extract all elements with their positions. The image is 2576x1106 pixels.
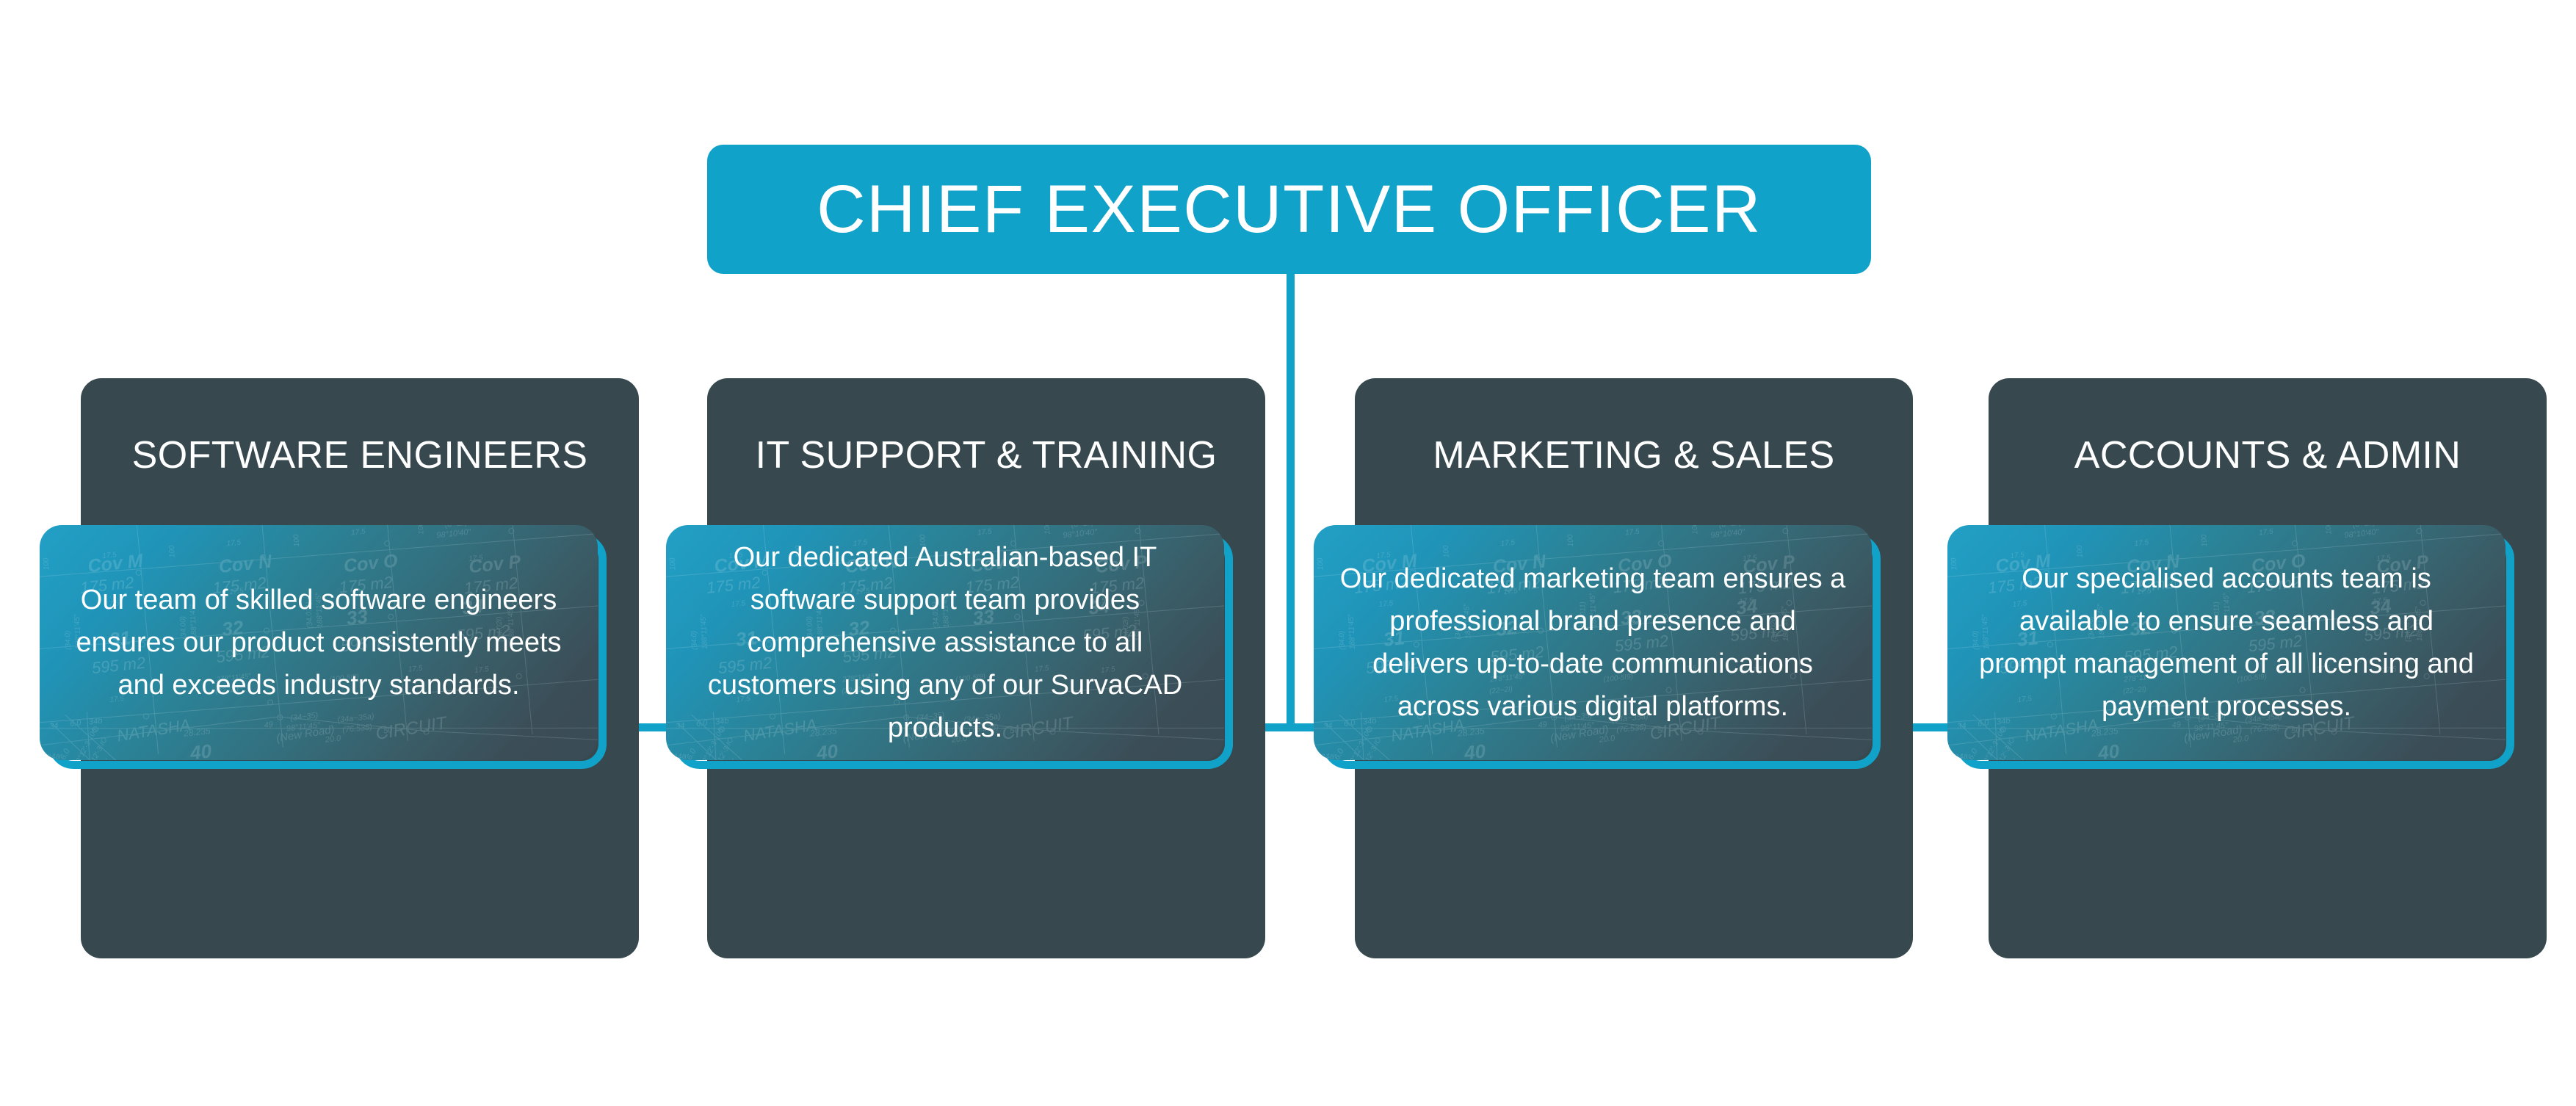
svg-text:53°12′·3·IO: 53°12′·3·IO: [1359, 736, 1383, 760]
svg-text:Conc. foundation: Conc. foundation: [918, 525, 980, 527]
svg-text:17.5: 17.5: [1748, 525, 1763, 527]
dept-description-panel: Cov M175 m2Cov N175 m2Cov O175 m2Cov P17…: [666, 525, 1224, 760]
svg-text:Conc. foundation: Conc. foundation: [292, 525, 353, 527]
svg-text:(8~11): (8~11): [1071, 525, 1095, 529]
svg-text:100: 100: [417, 525, 426, 535]
svg-text:(34a~35a): (34a~35a): [337, 712, 375, 725]
svg-text:98°10′40″: 98°10′40″: [1710, 527, 1746, 540]
svg-text:100: 100: [2076, 545, 2085, 558]
svg-text:20.0: 20.0: [2232, 734, 2249, 744]
svg-text:(34~35): (34~35): [290, 711, 319, 723]
org-node-ceo[interactable]: CHIEF EXECUTIVE OFFICER: [707, 145, 1871, 274]
dept-title: IT SUPPORT & TRAINING: [707, 435, 1265, 476]
dept-description-panel: Cov M175 m2Cov N175 m2Cov O175 m2Cov P17…: [1314, 525, 1872, 760]
svg-text:Conc. foundation: Conc. foundation: [2199, 525, 2261, 527]
svg-text:17.5: 17.5: [1500, 538, 1516, 548]
svg-text:Cov N: Cov N: [218, 551, 274, 577]
ceo-title: CHIEF EXECUTIVE OFFICER: [817, 176, 1762, 243]
dept-title: MARKETING & SALES: [1355, 435, 1913, 476]
svg-text:6.0: 6.0: [70, 718, 82, 729]
svg-text:83°12′·3·106: 83°12′·3·106: [73, 727, 99, 760]
svg-text:50: 50: [383, 726, 394, 735]
dept-title: SOFTWARE ENGINEERS: [81, 435, 639, 476]
svg-text:(8~11): (8~11): [444, 525, 468, 529]
svg-text:17.5: 17.5: [351, 527, 366, 537]
svg-text:23°12′: 23°12′: [95, 757, 113, 760]
svg-text:34b: 34b: [88, 717, 103, 727]
svg-text:17.5: 17.5: [2259, 527, 2274, 537]
dept-description-panel: Cov M175 m2Cov N175 m2Cov O175 m2Cov P17…: [40, 525, 598, 760]
svg-text:98°11′45″: 98°11′45″: [286, 721, 321, 734]
svg-text:100: 100: [168, 545, 177, 558]
svg-text:17.5: 17.5: [1625, 527, 1640, 537]
svg-text:Conc. foundation: Conc. foundation: [1566, 525, 1627, 527]
svg-text:40: 40: [189, 740, 213, 760]
svg-text:40: 40: [1463, 740, 1487, 760]
svg-text:23°12′: 23°12′: [1370, 757, 1387, 760]
svg-text:23°12′: 23°12′: [722, 757, 739, 760]
dept-description-panel: Cov M175 m2Cov N175 m2Cov O175 m2Cov P17…: [1947, 525, 2506, 760]
svg-text:17.5: 17.5: [2381, 525, 2397, 527]
org-node-it-support-training[interactable]: IT SUPPORT & TRAINING Cov M175 m2Cov N17…: [707, 378, 1265, 958]
dept-description: Our dedicated Australian-based IT softwa…: [666, 536, 1224, 750]
dept-description: Our team of skilled software engineers e…: [40, 579, 598, 706]
svg-text:17.5: 17.5: [226, 538, 242, 548]
svg-text:49: 49: [264, 720, 273, 730]
svg-text:100: 100: [42, 557, 51, 571]
svg-text:20.0: 20.0: [324, 734, 341, 744]
svg-text:17.5: 17.5: [474, 525, 489, 527]
svg-text:40: 40: [2096, 740, 2121, 760]
svg-text:(New Road): (New Road): [275, 723, 336, 745]
svg-text:83°12′·3·106: 83°12′·3·106: [1980, 727, 2007, 760]
svg-text:Cov O: Cov O: [343, 550, 399, 577]
svg-text:(76.535): (76.535): [342, 723, 373, 734]
svg-text:20.0: 20.0: [1598, 734, 1616, 744]
svg-text:34: 34: [49, 721, 59, 731]
svg-text:100: 100: [1566, 534, 1575, 547]
org-chart-canvas: CHIEF EXECUTIVE OFFICER SOFTWARE ENGINEE…: [0, 0, 2576, 1106]
svg-text:98°10′40″: 98°10′40″: [436, 527, 472, 540]
dept-description: Our dedicated marketing team ensures a p…: [1314, 557, 1872, 729]
svg-text:100: 100: [1691, 525, 1700, 535]
svg-text:6.0: 6.0: [1333, 747, 1346, 760]
dept-description: Our specialised accounts team is availab…: [1947, 557, 2506, 729]
svg-text:17.5: 17.5: [1100, 525, 1115, 527]
svg-text:100: 100: [1442, 545, 1451, 558]
svg-text:(8~11): (8~11): [2352, 525, 2376, 529]
svg-text:23°12′: 23°12′: [2003, 757, 2021, 760]
svg-text:17.5: 17.5: [468, 554, 484, 563]
svg-text:CIRCUIT: CIRCUIT: [375, 713, 450, 744]
org-node-marketing-sales[interactable]: MARKETING & SALES Cov M175 m2Cov N175 m2…: [1355, 378, 1913, 958]
svg-text:NATASHA: NATASHA: [116, 715, 192, 745]
svg-text:6.0: 6.0: [1967, 747, 1980, 760]
svg-text:98°10′40″: 98°10′40″: [2344, 527, 2380, 540]
svg-text:17.5: 17.5: [2134, 538, 2149, 548]
svg-text:100: 100: [2325, 525, 2334, 535]
svg-text:100: 100: [1043, 525, 1052, 535]
svg-text:100: 100: [2200, 534, 2209, 547]
svg-text:100: 100: [292, 534, 301, 547]
dept-title: ACCOUNTS & ADMIN: [1989, 435, 2547, 476]
svg-text:6.0: 6.0: [59, 747, 72, 760]
org-node-software-engineers[interactable]: SOFTWARE ENGINEERS Cov M175 m2Cov N175 m…: [81, 378, 639, 958]
svg-text:17.5: 17.5: [102, 551, 117, 560]
svg-text:53°12′·3·IO: 53°12′·3·IO: [1993, 736, 2017, 760]
connector-trunk-vertical: [1287, 264, 1295, 731]
org-node-accounts-admin[interactable]: ACCOUNTS & ADMIN Cov M175 m2Cov N175 m2C…: [1989, 378, 2547, 958]
svg-text:28.235: 28.235: [182, 726, 211, 739]
svg-text:Cov M: Cov M: [87, 550, 145, 577]
svg-text:53°12′·3·IO: 53°12′·3·IO: [85, 736, 109, 760]
svg-text:(8~11): (8~11): [1718, 525, 1743, 529]
svg-text:Cov P: Cov P: [468, 552, 522, 577]
svg-text:83°12′·3·106: 83°12′·3·106: [1347, 727, 1373, 760]
